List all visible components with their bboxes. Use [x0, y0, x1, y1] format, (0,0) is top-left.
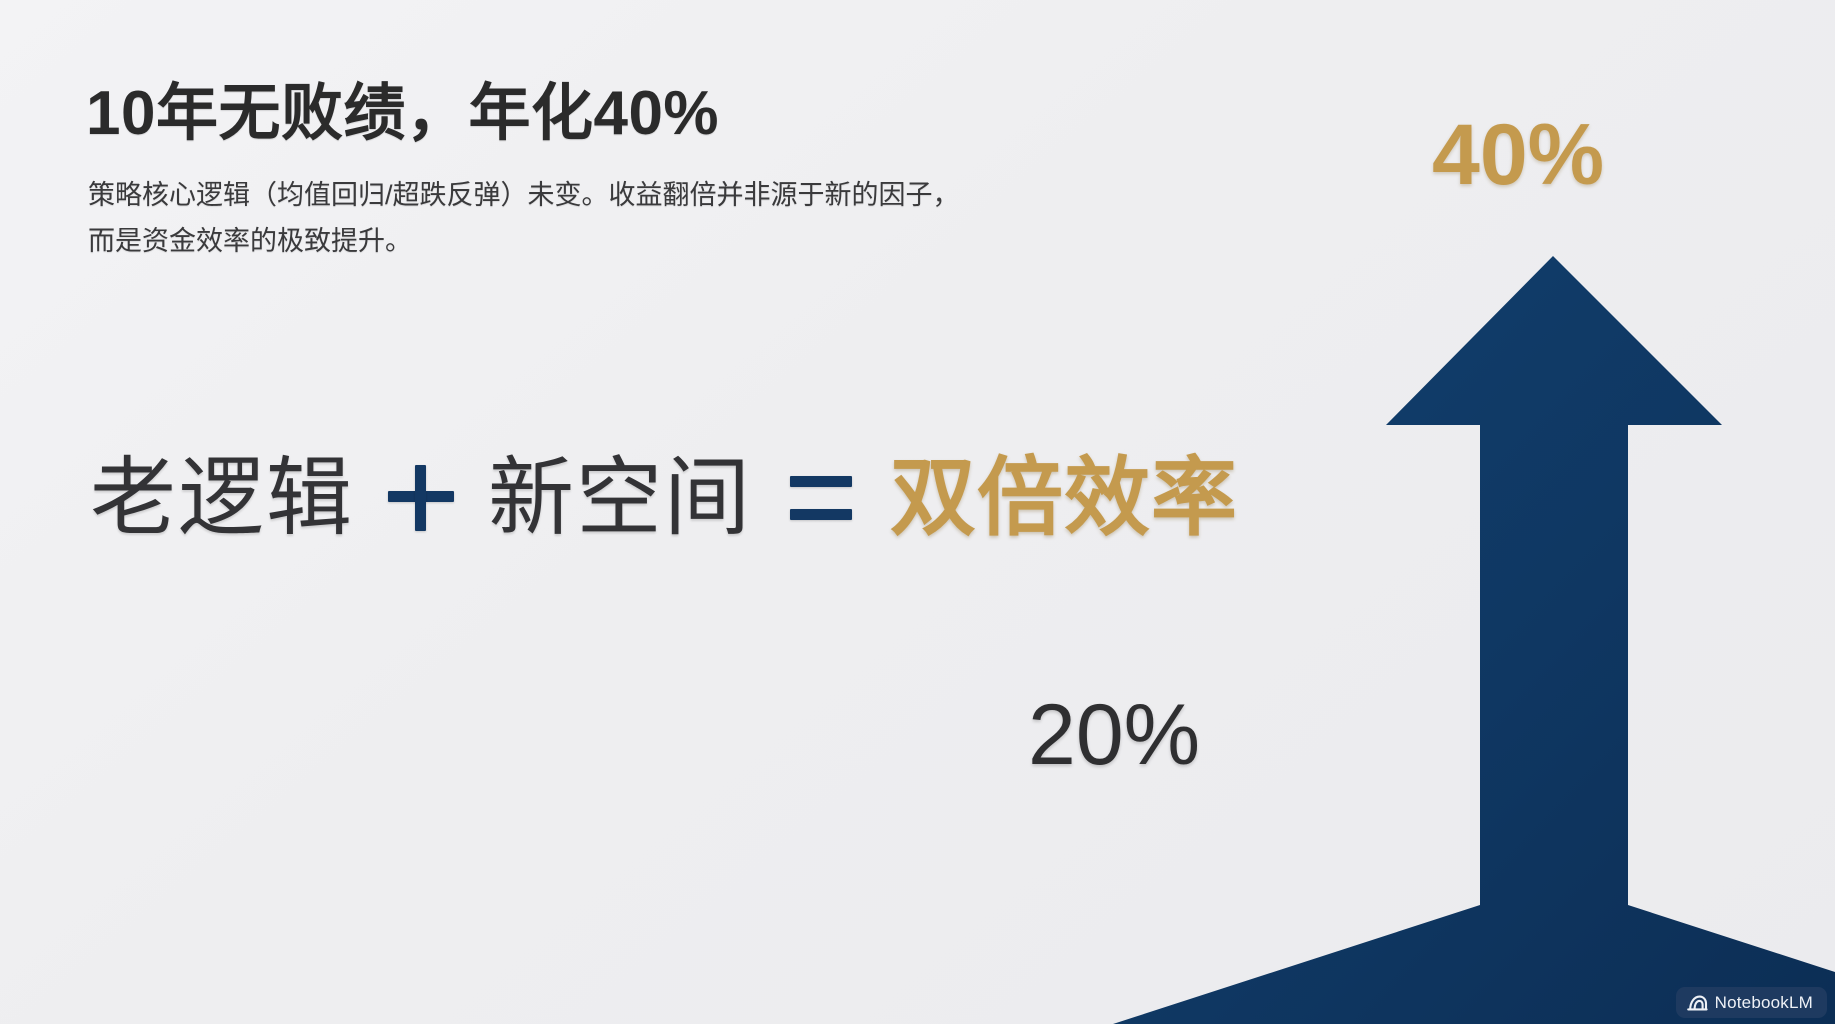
- notebooklm-watermark: NotebookLM: [1676, 987, 1827, 1018]
- subtitle-paragraph: 策略核心逻辑（均值回归/超跌反弹）未变。收益翻倍并非源于新的因子， 而是资金效率…: [88, 172, 1098, 265]
- notebooklm-label: NotebookLM: [1715, 994, 1813, 1011]
- slide-canvas: 10年无败绩，年化40% 策略核心逻辑（均值回归/超跌反弹）未变。收益翻倍并非源…: [0, 0, 1835, 1024]
- arrow-shape: [1113, 256, 1835, 1024]
- page-title: 10年无败绩，年化40%: [86, 62, 719, 152]
- subtitle-line-2: 而是资金效率的极致提升。: [88, 218, 1098, 264]
- callout-top-percent: 40%: [1432, 112, 1604, 198]
- equals-icon: [790, 476, 852, 520]
- callout-bottom-percent: 20%: [1028, 692, 1200, 778]
- equation-result-double-efficiency: 双倍效率: [890, 455, 1238, 541]
- notebooklm-spiral-icon: [1687, 994, 1708, 1011]
- plus-icon: [388, 465, 454, 531]
- equation-term-old-logic: 老逻辑: [90, 455, 354, 541]
- equation-row: 老逻辑 新空间 双倍效率: [90, 438, 1238, 558]
- equation-term-new-space: 新空间: [488, 455, 752, 541]
- subtitle-line-1: 策略核心逻辑（均值回归/超跌反弹）未变。收益翻倍并非源于新的因子，: [88, 172, 1098, 218]
